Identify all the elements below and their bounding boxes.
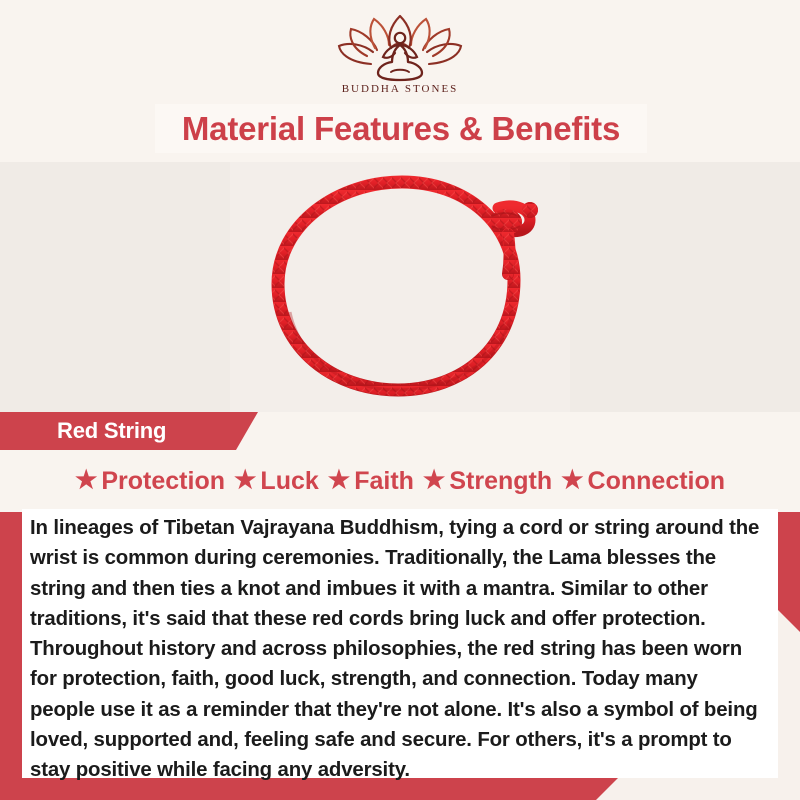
brand-wordmark: BUDDHA STONES (310, 83, 490, 95)
star-icon: ★ (234, 468, 256, 493)
red-string-bracelet-illustration (230, 162, 570, 412)
benefit-label: Strength (449, 467, 552, 496)
description-text: In lineages of Tibetan Vajrayana Buddhis… (30, 513, 768, 786)
benefit-item-protection: ★ Protection (75, 467, 225, 496)
benefit-item-faith: ★ Faith (328, 467, 414, 496)
benefit-label: Protection (101, 467, 225, 496)
benefits-list: ★ Protection ★ Luck ★ Faith ★ Strength ★… (0, 459, 800, 503)
header-section: BUDDHA STONES Material Features & Benefi… (0, 0, 800, 162)
benefit-item-connection: ★ Connection (561, 467, 725, 496)
benefit-label: Faith (354, 467, 414, 496)
benefit-item-luck: ★ Luck (234, 467, 319, 496)
product-image-section (0, 162, 800, 412)
star-icon: ★ (75, 468, 97, 493)
benefit-label: Connection (588, 467, 726, 496)
category-label: Red String (57, 418, 166, 444)
product-photo (230, 162, 570, 412)
page-title-plate: Material Features & Benefits (155, 104, 647, 153)
category-banner: Red String (0, 412, 258, 450)
page-title: Material Features & Benefits (182, 110, 620, 148)
description-panel: In lineages of Tibetan Vajrayana Buddhis… (22, 509, 778, 778)
benefit-label: Luck (260, 467, 318, 496)
star-icon: ★ (423, 468, 445, 493)
brand-logo: BUDDHA STONES (310, 12, 490, 95)
lotus-meditation-icon (337, 12, 463, 82)
star-icon: ★ (328, 468, 350, 493)
benefit-item-strength: ★ Strength (423, 467, 552, 496)
infographic-poster: BUDDHA STONES Material Features & Benefi… (0, 0, 800, 800)
star-icon: ★ (561, 468, 583, 493)
